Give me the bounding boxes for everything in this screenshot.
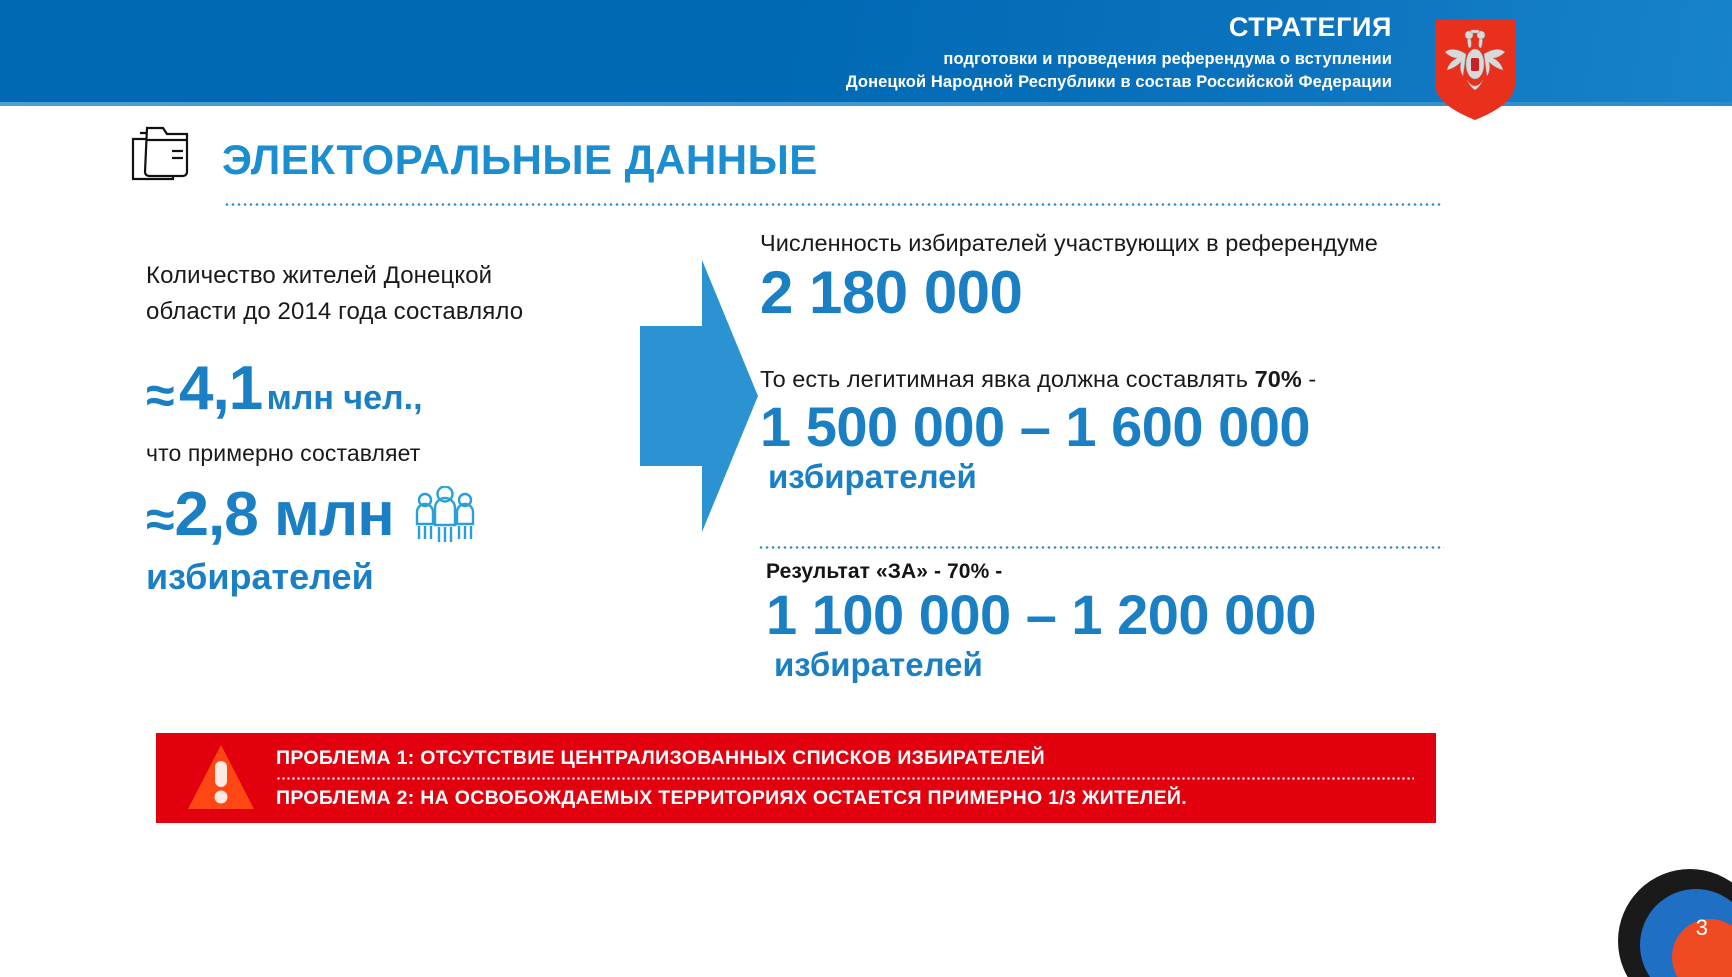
left-lead-line-2: области до 2014 года составляло [146,294,616,330]
slide-title-row: ЭЛЕКТОРАЛЬНЫЕ ДАННЫЕ [128,123,818,197]
left-column: Количество жителей Донецкой области до 2… [146,258,616,598]
referendum-voters-value: 2 180 000 [760,259,1460,326]
right-block-1: Численность избирателей участвующих в ре… [760,228,1460,326]
warning-triangle-icon [184,743,258,813]
left-lead-line-1: Количество жителей Донецкой [146,258,616,294]
right-column: Численность избирателей участвующих в ре… [760,228,1460,495]
approx-symbol-voters: ≈ [146,490,175,550]
dnr-coat-of-arms-icon [1433,18,1517,122]
result-za-voters-word: избирателей [774,647,1456,683]
turnout-caption-suffix: - [1302,366,1316,392]
turnout-range-value: 1 500 000 – 1 600 000 [760,396,1460,459]
title-dotted-divider [224,203,1442,206]
turnout-voters-word: избирателей [768,459,1460,495]
right-block-2: То есть легитимная явка должна составлят… [760,364,1460,496]
population-value: 4,1 [179,354,262,423]
right-dotted-divider [758,546,1444,549]
header-subtitle-line-2: Донецкой Народной Республики в состав Ро… [846,71,1392,94]
problem-line-2: ПРОБЛЕМА 2: НА ОСВОБОЖДАЕМЫХ ТЕРРИТОРИЯХ… [276,787,1414,810]
approx-symbol-population: ≈ [146,367,175,425]
page-badge [1610,861,1732,977]
referendum-voters-caption: Численность избирателей участвующих в ре… [760,228,1460,259]
header-subtitle-line-1: подготовки и проведения референдума о вс… [846,48,1392,71]
left-voters-word: избирателей [146,556,616,598]
turnout-caption-prefix: То есть легитимная явка должна составлят… [760,366,1255,392]
problem-dotted-divider [276,777,1414,780]
problem-banner: ПРОБЛЕМА 1: ОТСУТСТВИЕ ЦЕНТРАЛИЗОВАННЫХ … [156,733,1436,823]
slide-root: СТРАТЕГИЯ подготовки и проведения рефере… [0,0,1732,977]
population-stat: ≈ 4,1 млн чел., [146,353,616,426]
folder-stack-icon [128,123,200,197]
turnout-percent: 70% [1255,366,1302,392]
page-title: ЭЛЕКТОРАЛЬНЫЕ ДАННЫЕ [222,136,818,184]
page-number: 3 [1696,915,1708,941]
population-unit: млн чел., [267,379,423,417]
voters-value: 2,8 млн [175,479,394,550]
voters-stat: ≈ 2,8 млн [146,479,616,550]
problem-line-1: ПРОБЛЕМА 1: ОТСУТСТВИЕ ЦЕНТРАЛИЗОВАННЫХ … [276,747,1414,770]
result-za-caption: Результат «ЗА» - 70% - [766,560,1456,584]
left-mid-text: что примерно составляет [146,440,616,467]
problem-text-group: ПРОБЛЕМА 1: ОТСУТСТВИЕ ЦЕНТРАЛИЗОВАННЫХ … [276,747,1436,810]
people-group-icon [408,486,482,544]
header-title: СТРАТЕГИЯ [846,14,1392,41]
turnout-caption: То есть легитимная явка должна составлят… [760,364,1460,395]
right-arrow-shape [640,260,758,532]
right-block-3: Результат «ЗА» - 70% - 1 100 000 – 1 200… [766,560,1456,683]
header-text-group: СТРАТЕГИЯ подготовки и проведения рефере… [846,14,1392,94]
result-za-range-value: 1 100 000 – 1 200 000 [766,584,1456,647]
